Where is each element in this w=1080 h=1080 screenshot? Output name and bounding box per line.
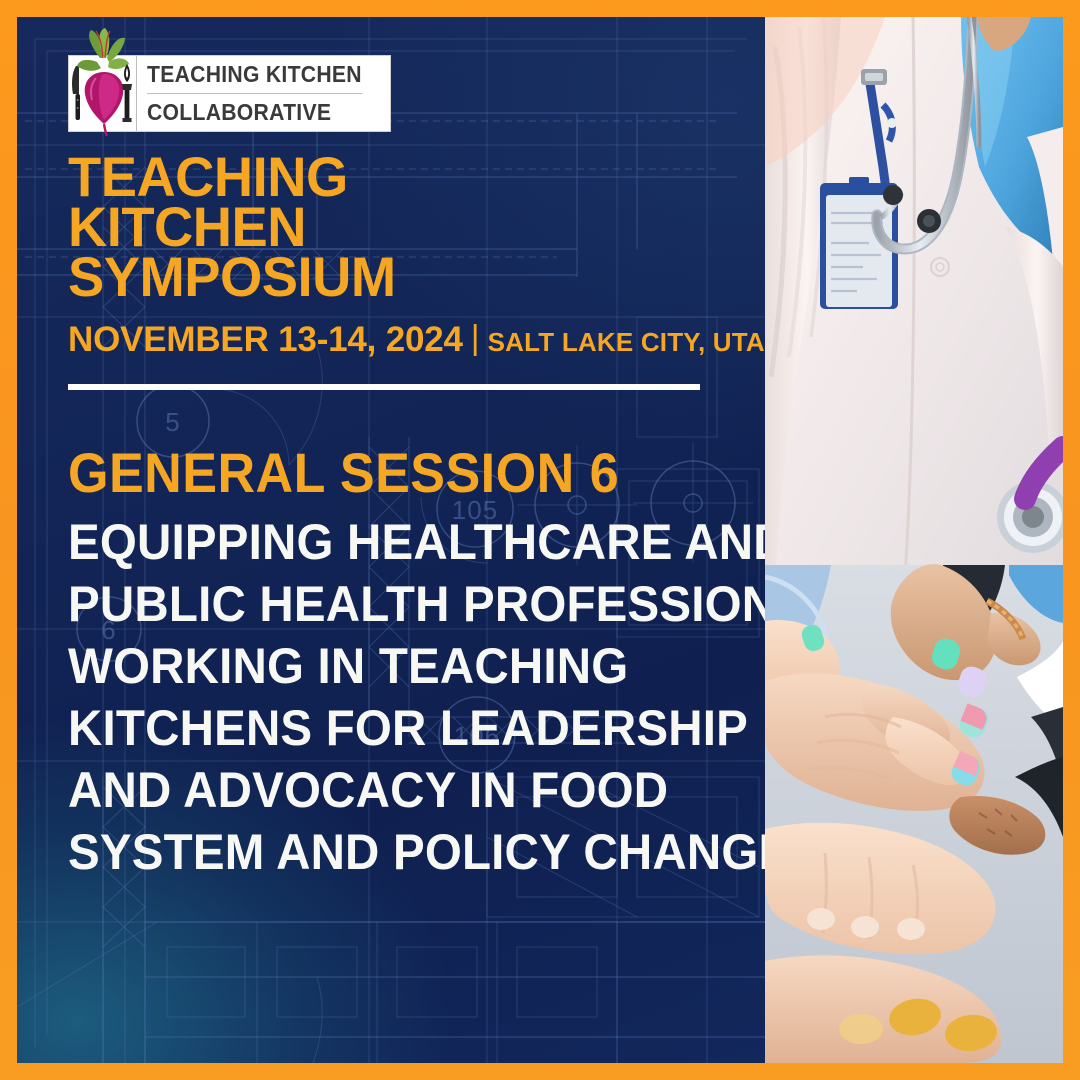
session-label: GENERAL SESSION 6 [68,444,688,502]
poster-inner: 5 105 6 106 [17,17,1063,1063]
tkc-logo[interactable]: TEACHING KITCHEN COLLABORATIVE [68,55,391,132]
logo-wordmark: TEACHING KITCHEN COLLABORATIVE [137,56,390,131]
photo-illustration [765,17,1063,1063]
left-info-panel: 5 105 6 106 [17,17,765,1063]
session-block: GENERAL SESSION 6 EQUIPPING HEALTHCARE A… [68,444,735,883]
beet-knife-torch-icon [67,28,141,136]
logo-line-teaching-kitchen: TEACHING KITCHEN [147,56,362,94]
left-content: TEACHING KITCHEN COLLABORATIVE TEACHING … [17,17,765,1063]
logo-mark [69,56,137,131]
event-title-line-3: SYMPOSIUM [68,252,715,302]
session-title-line-6: SYSTEM AND POLICY CHANGE [68,821,702,883]
event-location: SALT LAKE CITY, UTAH [488,327,765,357]
session-title-line-2: PUBLIC HEALTH PROFESSIONALS [68,573,702,635]
event-dates: NOVEMBER 13-14, 2024 [68,320,463,359]
torch-icon [122,64,132,122]
event-title: TEACHING KITCHEN SYMPOSIUM [68,152,735,302]
divider-rule [68,384,700,390]
knife-icon [72,66,80,120]
session-title: EQUIPPING HEALTHCARE AND PUBLIC HEALTH P… [68,511,735,883]
session-title-line-3: WORKING IN TEACHING [68,635,702,697]
poster-canvas: 5 105 6 106 [0,0,1080,1080]
beet-icon [77,28,129,136]
meta-separator: | [463,319,488,357]
logo-line-collaborative: COLLABORATIVE [147,94,362,131]
session-title-line-1: EQUIPPING HEALTHCARE AND [68,511,702,573]
healthcare-team-photo [765,17,1063,1063]
session-title-line-4: KITCHENS FOR LEADERSHIP [68,697,702,759]
event-meta: NOVEMBER 13-14, 2024|SALT LAKE CITY, UTA… [68,320,735,360]
session-title-line-5: AND ADVOCACY IN FOOD [68,759,702,821]
